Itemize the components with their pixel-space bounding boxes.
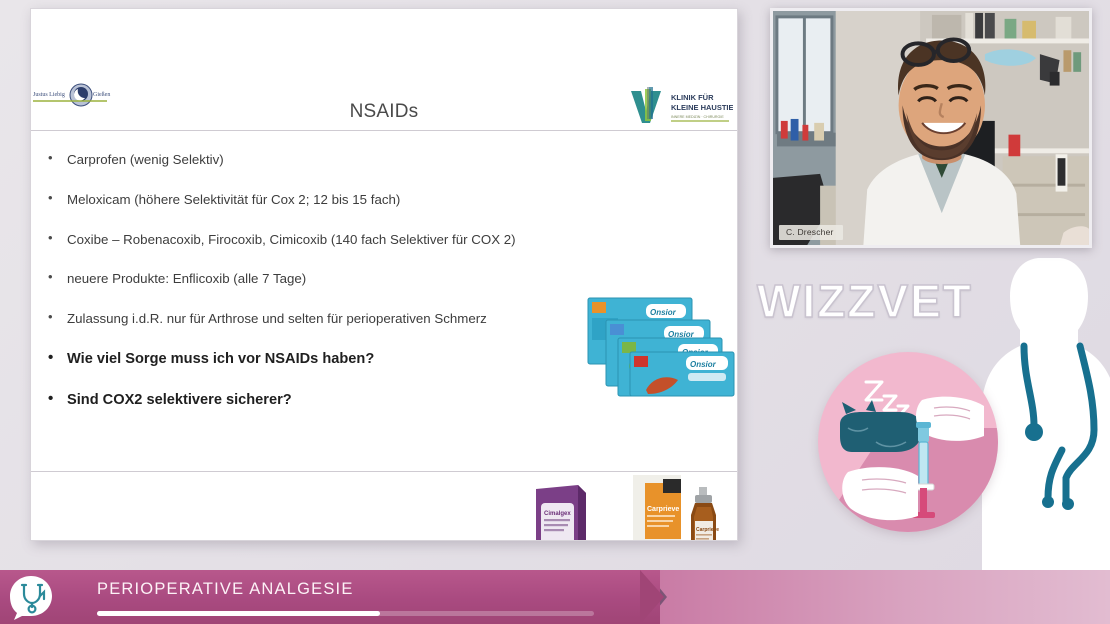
- onsior-product-image: Onsior Onsior: [586, 294, 738, 399]
- progress-bar-fill: [97, 611, 380, 616]
- svg-text:Onsior: Onsior: [690, 360, 717, 369]
- slide-header: Justus Liebig Gießen KLINIK FÜR KLEINE H…: [31, 9, 737, 131]
- banner-chevron: [640, 570, 664, 624]
- svg-text:Gießen: Gießen: [93, 91, 110, 98]
- bottom-banner: PERIOPERATIVE ANALGESIE: [0, 570, 1110, 624]
- slide-canvas: Justus Liebig Gießen KLINIK FÜR KLEINE H…: [30, 8, 738, 541]
- wizzvet-watermark: WIZZVET: [757, 274, 973, 328]
- presentation-viewport: WIZZVET: [0, 0, 1110, 624]
- webcam-video-frame: [773, 11, 1089, 247]
- stethoscope-speech-bubble-logo: [8, 574, 54, 620]
- slide-title: NSAIDs: [31, 101, 737, 123]
- sleeping-cat-injection-illustration: [818, 352, 998, 532]
- svg-text:Justus Liebig: Justus Liebig: [33, 92, 65, 98]
- bullet-item: Coxibe – Robenacoxib, Firocoxib, Cimicox…: [31, 233, 737, 246]
- presenter-name-tag: C. Drescher: [779, 225, 843, 240]
- banner-tail: [660, 570, 1110, 624]
- presenter-webcam-feed[interactable]: C. Drescher: [770, 8, 1092, 248]
- svg-text:Onsior: Onsior: [650, 308, 677, 317]
- bullet-item: Meloxicam (höhere Selektivität für Cox 2…: [31, 193, 737, 206]
- bullet-item: Carprofen (wenig Selektiv): [31, 153, 737, 166]
- banner-bar: PERIOPERATIVE ANALGESIE: [0, 570, 660, 624]
- slide-footer: [31, 471, 737, 540]
- banner-title: PERIOPERATIVE ANALGESIE: [97, 580, 354, 599]
- bullet-item: neuere Produkte: Enflicoxib (alle 7 Tage…: [31, 272, 737, 285]
- slide-body: Carprofen (wenig Selektiv) Meloxicam (hö…: [31, 131, 737, 471]
- progress-bar-track[interactable]: [97, 611, 594, 616]
